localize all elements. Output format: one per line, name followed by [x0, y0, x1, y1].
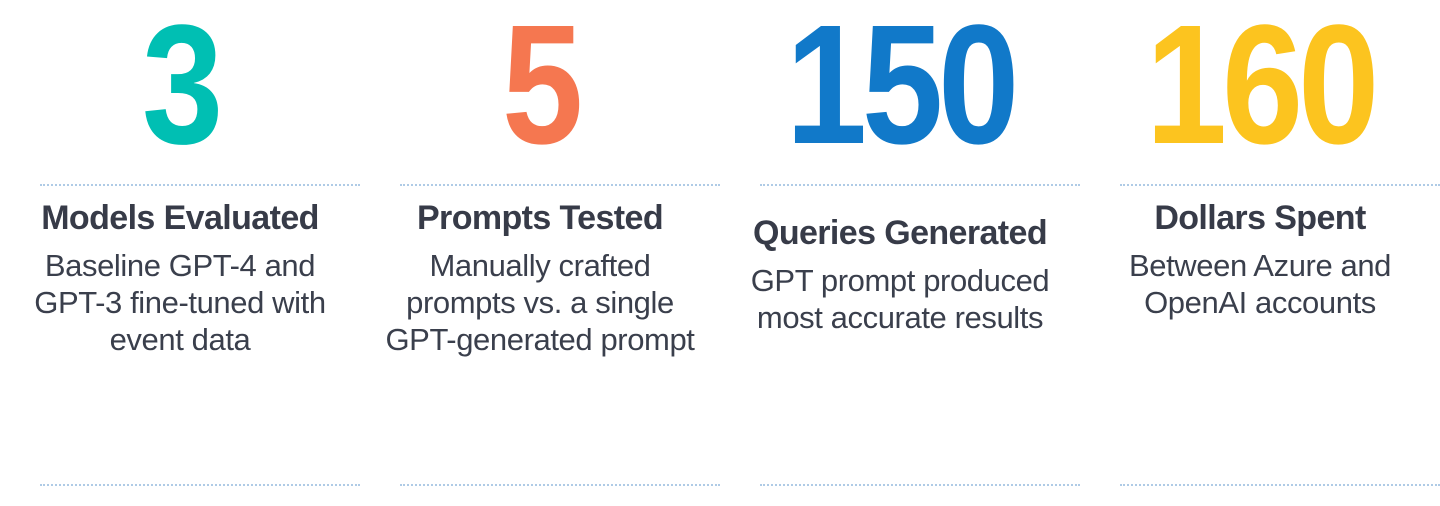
- divider-top-1: [40, 184, 360, 186]
- stat-number-3: 150: [745, 0, 1055, 170]
- stats-board: 3 Models Evaluated Baseline GPT-4 and GP…: [0, 0, 1440, 506]
- stat-number-2: 5: [385, 0, 695, 170]
- stat-description-2: Manually crafted prompts vs. a single GP…: [378, 247, 702, 358]
- stat-column-dollars-spent: 160 Dollars Spent Between Azure and Open…: [1080, 0, 1440, 506]
- stat-title-3: Queries Generated: [738, 213, 1062, 254]
- stat-title-1: Models Evaluated: [18, 198, 342, 239]
- divider-bottom-4: [1120, 484, 1440, 486]
- divider-bottom-3: [760, 484, 1080, 486]
- divider-bottom-1: [40, 484, 360, 486]
- stat-description-3: GPT prompt produced most accurate result…: [738, 262, 1062, 336]
- divider-bottom-2: [400, 484, 720, 486]
- divider-top-2: [400, 184, 720, 186]
- stat-text-block-4: Dollars Spent Between Azure and OpenAI a…: [1098, 198, 1422, 321]
- stat-description-1: Baseline GPT-4 and GPT-3 fine-tuned with…: [18, 247, 342, 358]
- stat-description-4: Between Azure and OpenAI accounts: [1098, 247, 1422, 321]
- stat-column-queries-generated: 150 Queries Generated GPT prompt produce…: [720, 0, 1080, 506]
- stat-text-block-1: Models Evaluated Baseline GPT-4 and GPT-…: [18, 198, 342, 358]
- divider-top-3: [760, 184, 1080, 186]
- divider-top-4: [1120, 184, 1440, 186]
- stat-number-4: 160: [1105, 0, 1415, 170]
- stat-number-1: 3: [25, 0, 335, 170]
- stat-title-4: Dollars Spent: [1098, 198, 1422, 239]
- stat-text-block-2: Prompts Tested Manually crafted prompts …: [378, 198, 702, 358]
- stat-text-block-3: Queries Generated GPT prompt produced mo…: [738, 213, 1062, 336]
- stat-column-models-evaluated: 3 Models Evaluated Baseline GPT-4 and GP…: [0, 0, 360, 506]
- stat-title-2: Prompts Tested: [378, 198, 702, 239]
- stat-column-prompts-tested: 5 Prompts Tested Manually crafted prompt…: [360, 0, 720, 506]
